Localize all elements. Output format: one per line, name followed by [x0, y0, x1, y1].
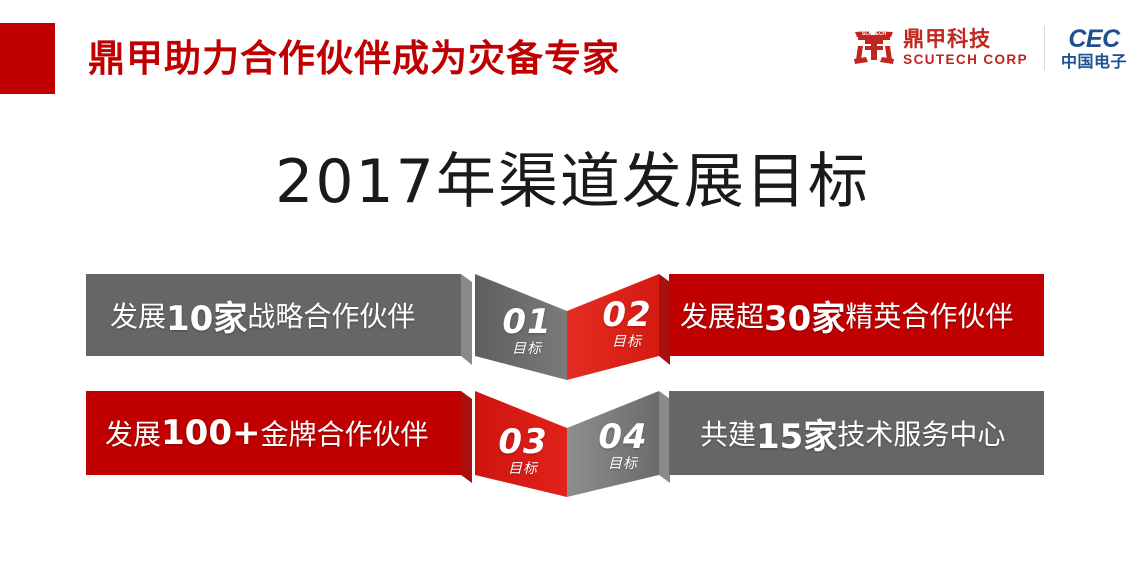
scutech-logo: SCUTECH 鼎甲科技 SCUTECH CORP	[852, 26, 1028, 70]
scutech-logo-text: 鼎甲科技 SCUTECH CORP	[903, 29, 1028, 67]
scutech-logo-icon: SCUTECH	[852, 26, 896, 70]
cec-name-en: CEC	[1068, 27, 1119, 52]
goal-label-3-prefix: 发展	[105, 413, 161, 453]
goal-bar-4-cap	[659, 391, 670, 483]
logo-divider	[1044, 26, 1045, 70]
header-title: 鼎甲助力合作伙伴成为灾备专家	[88, 28, 620, 82]
goal-chevron-label-4: 04 目标	[588, 420, 658, 471]
goal-label-3-highlight: 100+	[161, 413, 260, 453]
goal-number-3: 03	[488, 425, 558, 459]
goal-sub-2: 目标	[592, 335, 662, 349]
goal-bar-1-cap	[461, 274, 472, 365]
goal-label-1: 发展10家战略合作伙伴	[110, 274, 415, 356]
goal-label-4-highlight: 15家	[756, 409, 837, 458]
header-accent-block	[0, 23, 55, 94]
cec-name-cn: 中国电子	[1061, 54, 1127, 70]
goal-sub-1: 目标	[492, 342, 562, 356]
goal-number-1: 01	[492, 305, 562, 339]
goal-number-2: 02	[592, 298, 662, 332]
goal-chevron-label-1: 01 目标	[492, 305, 562, 356]
scutech-name-cn: 鼎甲科技	[903, 29, 1028, 50]
goal-label-3: 发展100+金牌合作伙伴	[105, 391, 429, 475]
goal-label-1-highlight: 10家	[166, 291, 247, 340]
goal-chevron-label-2: 02 目标	[592, 298, 662, 349]
goal-sub-3: 目标	[488, 462, 558, 476]
goal-label-1-prefix: 发展	[110, 295, 166, 335]
goal-label-1-suffix: 战略合作伙伴	[247, 295, 415, 335]
goal-label-2: 发展超30家精英合作伙伴	[680, 274, 1013, 356]
goal-label-2-suffix: 精英合作伙伴	[845, 295, 1013, 335]
brand-logo-group: SCUTECH 鼎甲科技 SCUTECH CORP CEC 中国电子	[852, 26, 1127, 70]
goal-label-3-suffix: 金牌合作伙伴	[260, 413, 428, 453]
goal-label-2-highlight: 30家	[764, 291, 845, 340]
scutech-name-en: SCUTECH CORP	[903, 53, 1028, 67]
slide-title: 2017年渠道发展目标	[0, 133, 1145, 220]
goal-bar-3-cap	[461, 391, 472, 483]
slide-header: 鼎甲助力合作伙伴成为灾备专家 SCUTECH 鼎甲	[0, 0, 1145, 110]
goal-number-4: 04	[588, 420, 658, 454]
goal-chevron-label-3: 03 目标	[488, 425, 558, 476]
goal-label-4-prefix: 共建	[700, 413, 756, 453]
goal-label-2-prefix: 发展超	[680, 295, 764, 335]
goal-sub-4: 目标	[588, 457, 658, 471]
svg-text:SCUTECH: SCUTECH	[862, 31, 887, 37]
cec-logo: CEC 中国电子	[1061, 27, 1127, 70]
goal-label-4-suffix: 技术服务中心	[837, 413, 1005, 453]
goal-label-4: 共建15家技术服务中心	[700, 391, 1005, 475]
